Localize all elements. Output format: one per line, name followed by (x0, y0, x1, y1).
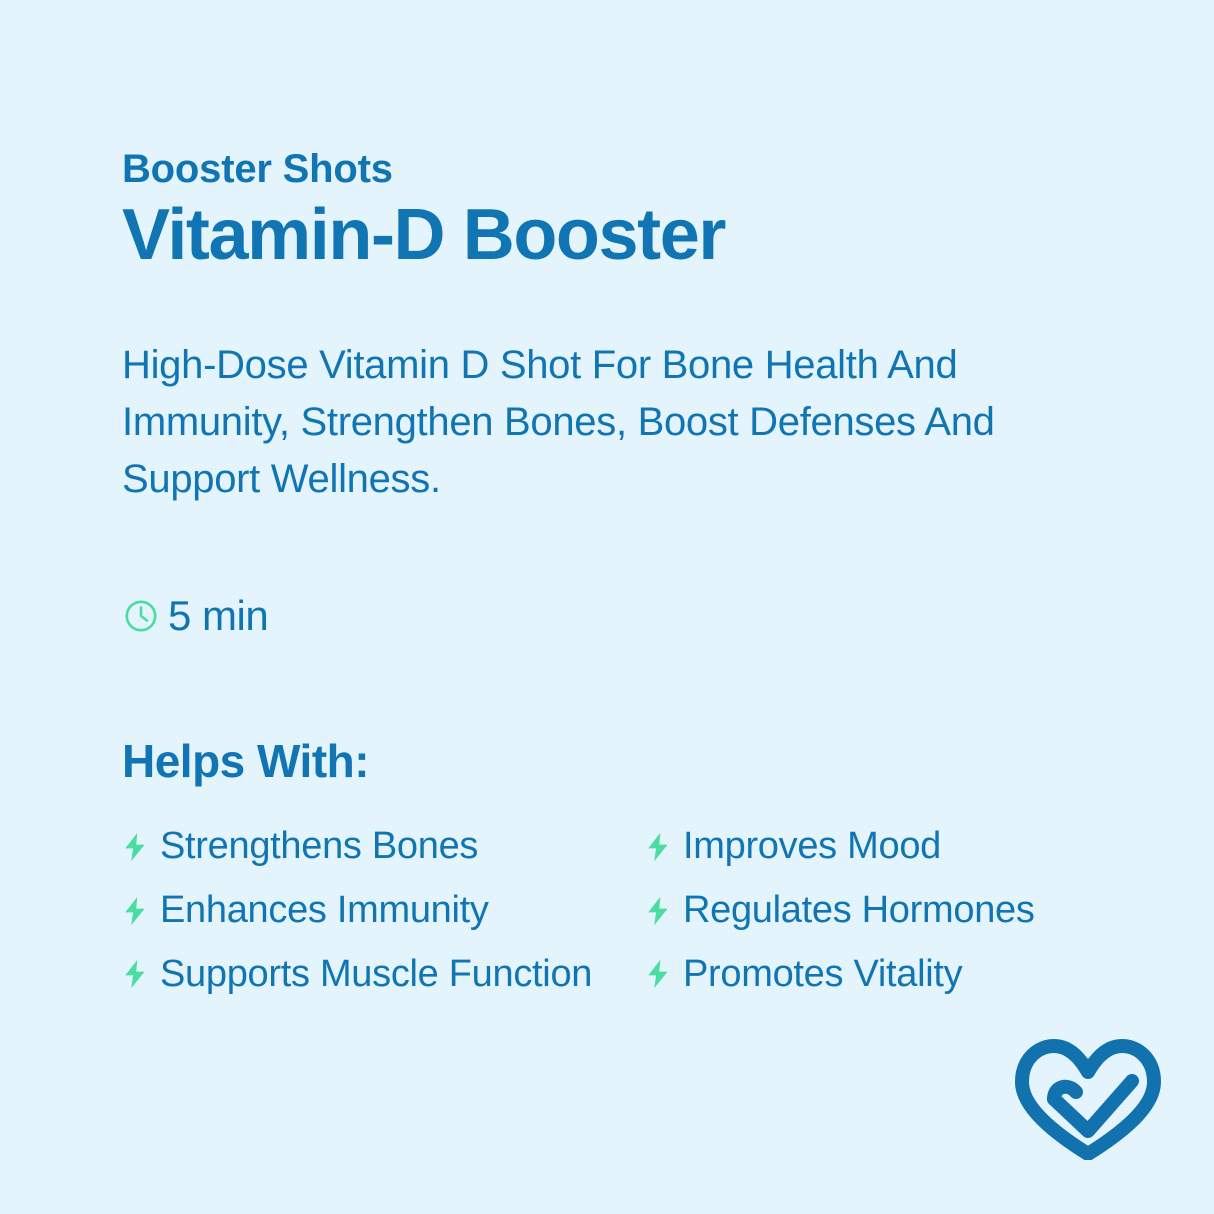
page-title: Vitamin-D Booster (122, 198, 1122, 274)
benefit-item: Enhances Immunity (122, 890, 645, 932)
category-kicker: Booster Shots (122, 146, 1122, 192)
duration-badge: 5 min (124, 595, 268, 637)
benefit-item: Strengthens Bones (122, 826, 645, 868)
benefit-label: Improves Mood (683, 826, 941, 868)
benefit-label: Strengthens Bones (160, 826, 478, 868)
benefits-list: Strengthens Bones Improves Mood Enhances… (122, 826, 1102, 995)
heart-check-logo (1014, 1036, 1162, 1160)
benefit-item: Improves Mood (645, 826, 1102, 868)
lightning-bolt-icon (122, 959, 148, 989)
lightning-bolt-icon (645, 959, 671, 989)
benefit-item: Supports Muscle Function (122, 954, 645, 996)
helps-with-heading: Helps With: (122, 735, 369, 788)
benefit-label: Regulates Hormones (683, 890, 1035, 932)
benefit-label: Supports Muscle Function (160, 954, 592, 996)
benefit-label: Promotes Vitality (683, 954, 962, 996)
lightning-bolt-icon (122, 896, 148, 926)
header-block: Booster Shots Vitamin-D Booster (122, 146, 1122, 274)
benefit-label: Enhances Immunity (160, 890, 489, 932)
benefit-item: Promotes Vitality (645, 954, 1102, 996)
lightning-bolt-icon (122, 832, 148, 862)
benefit-item: Regulates Hormones (645, 890, 1102, 932)
product-description: High-Dose Vitamin D Shot For Bone Health… (122, 337, 1132, 507)
duration-value: 5 min (168, 595, 268, 637)
product-info-card: Booster Shots Vitamin-D Booster High-Dos… (0, 0, 1214, 1214)
clock-icon (124, 599, 158, 633)
lightning-bolt-icon (645, 896, 671, 926)
lightning-bolt-icon (645, 832, 671, 862)
